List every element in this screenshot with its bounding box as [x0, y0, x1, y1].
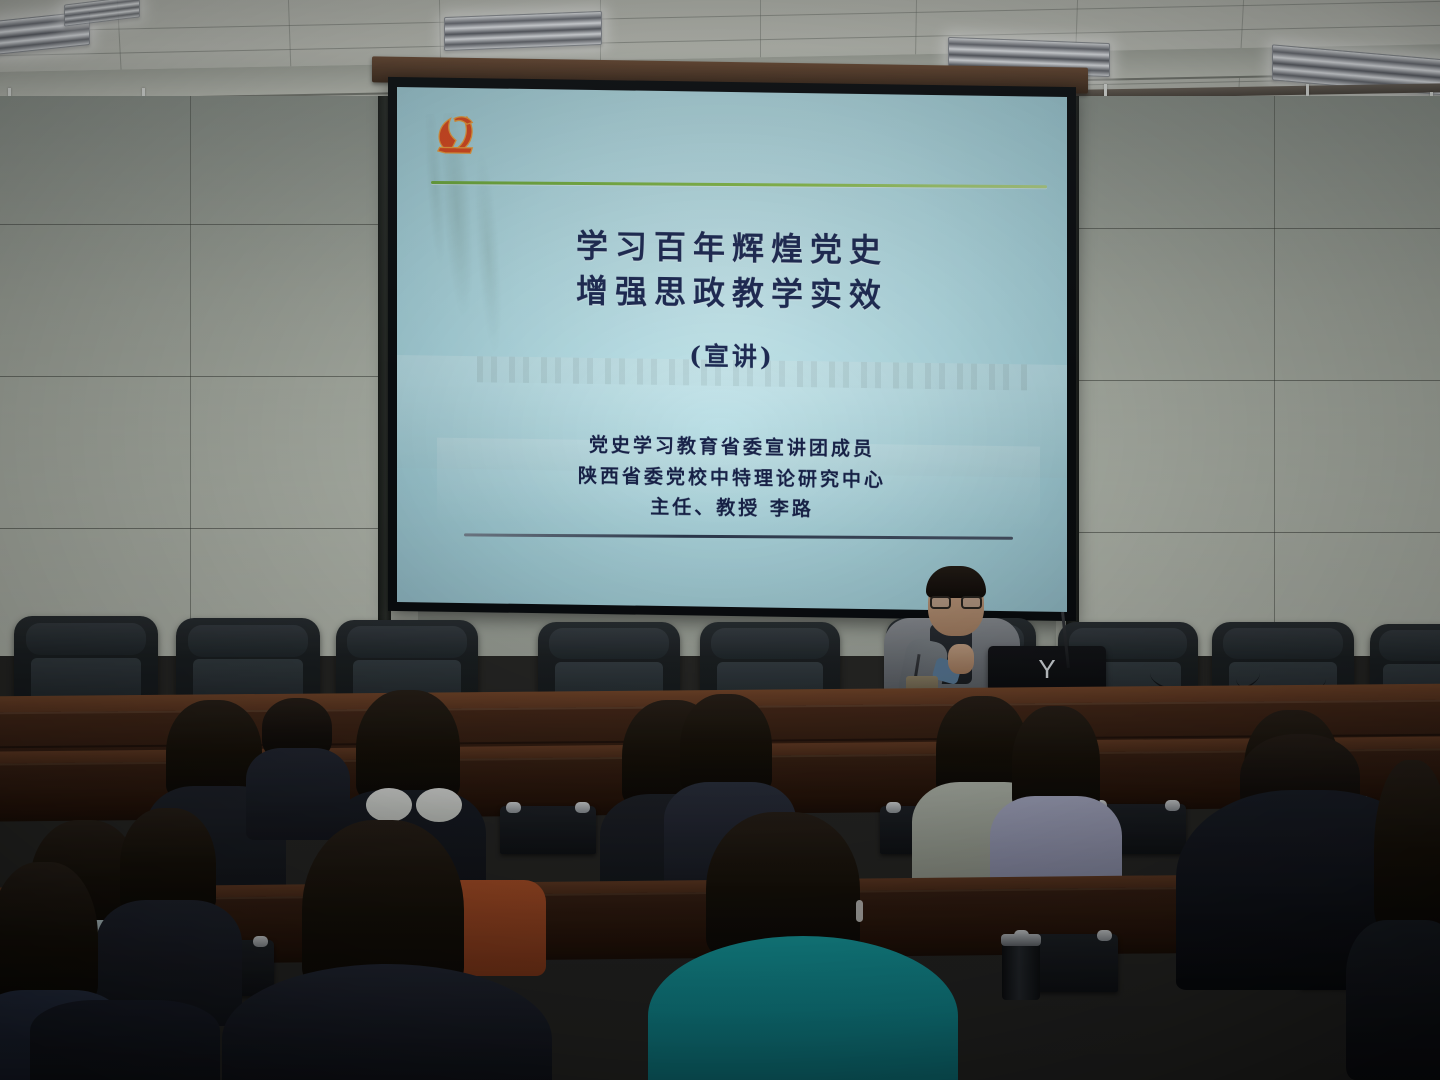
- lace-collar: [366, 788, 412, 822]
- teal-jacket: [648, 936, 958, 1080]
- slide-subtitle: 党史学习教育省委宣讲团成员 陕西省委党校中特理论研究中心 主任、教授 李路: [397, 427, 1067, 529]
- fluorescent-ceiling-light: [64, 0, 140, 27]
- audience-chair: [500, 806, 596, 854]
- fluorescent-ceiling-light: [444, 11, 602, 51]
- slide-underline: [464, 533, 1013, 539]
- laptop-logo: Y: [1038, 656, 1055, 682]
- dark-coat-edge: [1346, 920, 1440, 1080]
- presenter-hand: [948, 644, 974, 674]
- mint-jacket-bottom: [30, 1000, 220, 1080]
- hair: [1374, 760, 1440, 940]
- projection-screen: 学习百年辉煌党史 增强思政教学实效 (宣讲) 党史学习教育省委宣讲团成员 陕西省…: [388, 77, 1076, 621]
- thermos-cap: [1001, 934, 1041, 946]
- panelled-wall-right: [1056, 96, 1440, 656]
- thermos-bottle: [1002, 940, 1040, 1000]
- lecture-hall-photo: 学习百年辉煌党史 增强思政教学实效 (宣讲) 党史学习教育省委宣讲团成员 陕西省…: [0, 0, 1440, 1080]
- panelled-wall-left: [0, 96, 418, 656]
- slide-title: 学习百年辉煌党史 增强思政教学实效: [397, 221, 1067, 322]
- slide-surface: 学习百年辉煌党史 增强思政教学实效 (宣讲) 党史学习教育省委宣讲团成员 陕西省…: [397, 87, 1067, 612]
- lace-collar: [416, 788, 462, 822]
- cpc-hammer-sickle-emblem: [427, 105, 485, 164]
- mask-strap: [856, 900, 863, 922]
- presenter-glasses: [930, 596, 982, 609]
